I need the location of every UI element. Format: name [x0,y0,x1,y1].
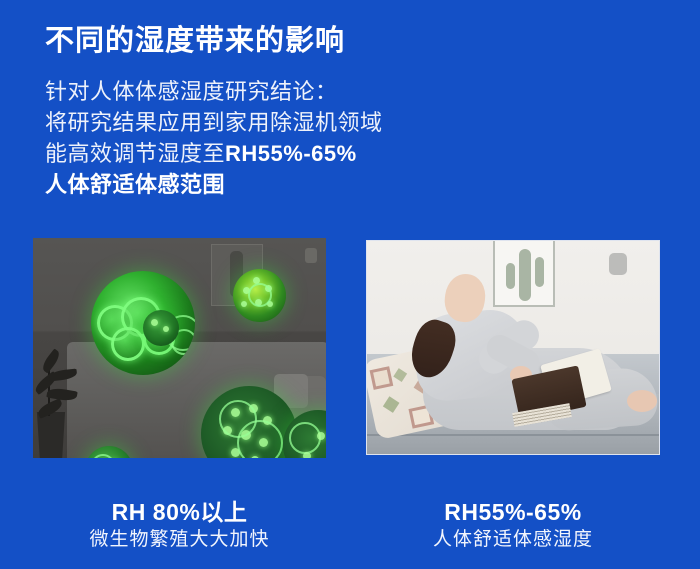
photo-high-humidity [33,238,326,458]
dim-living-room-scene [33,238,326,458]
plant-leaf [46,386,77,402]
bright-living-room-scene [367,241,659,454]
cactus-illustration [519,249,531,301]
target-humidity-value: RH55%-65% [225,141,357,166]
person-foot [627,390,657,412]
cactus-wall-art [493,240,555,307]
intro-line-2: 将研究结果应用到家用除湿机领域 [45,107,383,138]
intro-line-4: 人体舒适体感范围 [45,169,383,200]
caption-sub-comfort: 人体舒适体感湿度 [366,526,660,553]
plant-pot [35,412,67,458]
intro-line-3: 能高效调节湿度至RH55%-65% [45,138,383,169]
photo-comfort-humidity [366,240,660,455]
caption-title-high: RH 80%以上 [33,498,326,526]
microbe-small-left [143,310,179,346]
intro-line-3-prefix: 能高效调节湿度至 [45,141,225,166]
microbe-cluster-upper-right [233,269,286,322]
intro-paragraph: 针对人体体感湿度研究结论： 将研究结果应用到家用除湿机领域 能高效调节湿度至RH… [45,76,383,200]
caption-sub-high: 微生物繁殖大大加快 [33,526,326,553]
caption-title-comfort: RH55%-65% [366,498,660,526]
intro-line-1: 针对人体体感湿度研究结论： [45,76,383,107]
wall-sensor [609,253,627,275]
page-title: 不同的湿度带来的影响 [45,17,345,59]
caption-comfort-humidity: RH55%-65% 人体舒适体感湿度 [366,498,660,553]
wall-thermostat [305,248,317,263]
caption-high-humidity: RH 80%以上 微生物繁殖大大加快 [33,498,326,553]
potted-plant [33,328,77,458]
sofa-seam [367,434,659,436]
humidity-comparison-poster: 不同的湿度带来的影响 针对人体体感湿度研究结论： 将研究结果应用到家用除湿机领域… [0,0,700,569]
